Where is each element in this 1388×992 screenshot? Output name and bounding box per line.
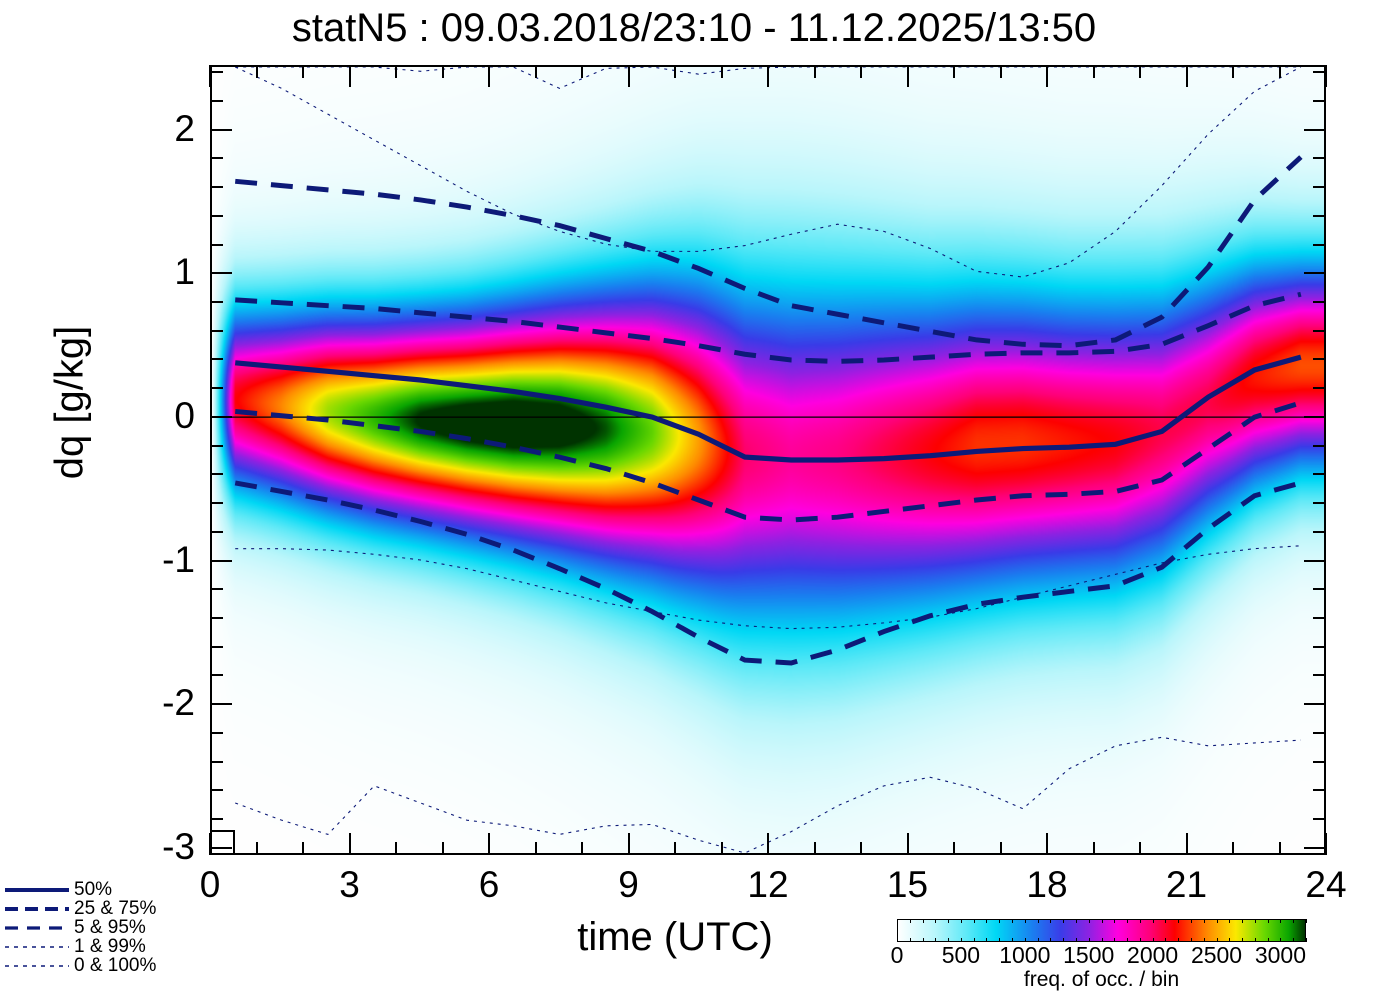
- percentile-25-line: [235, 403, 1301, 520]
- colorbar-tick: [1242, 919, 1243, 923]
- x-minor-tick: [721, 65, 723, 78]
- y-minor-tick: [1313, 674, 1326, 676]
- y-axis-tick-labels: 210-1-2-3: [100, 0, 195, 992]
- colorbar-tick: [1268, 919, 1269, 923]
- colorbar-tick: [1217, 919, 1218, 923]
- colorbar-tick: [1191, 919, 1192, 923]
- x-tick-label: 24: [1286, 866, 1366, 903]
- colorbar-tick: [1178, 919, 1179, 923]
- y-major-tick: [1304, 129, 1326, 131]
- x-minor-tick: [395, 65, 397, 78]
- y-minor-tick: [1313, 301, 1326, 303]
- y-minor-tick: [1313, 502, 1326, 504]
- x-minor-tick: [581, 65, 583, 78]
- colorbar-tick: [1089, 919, 1090, 923]
- legend-label: 0 & 100%: [74, 956, 156, 975]
- y-minor-tick: [210, 445, 223, 447]
- colorbar-tick-label: 3000: [1235, 944, 1325, 967]
- x-minor-tick: [674, 842, 676, 855]
- x-minor-tick: [953, 65, 955, 78]
- x-minor-tick: [395, 842, 397, 855]
- y-minor-tick: [1313, 761, 1326, 763]
- x-minor-tick: [1232, 65, 1234, 78]
- x-tick-label: 21: [1147, 866, 1227, 903]
- y-minor-tick: [1313, 818, 1326, 820]
- y-minor-tick: [210, 244, 223, 246]
- percentile-1-line: [235, 67, 1301, 277]
- x-minor-tick: [1139, 65, 1141, 78]
- colorbar-tick: [1204, 919, 1205, 923]
- colorbar-tick: [986, 938, 987, 942]
- y-major-tick: [210, 272, 232, 274]
- y-tick-label: 2: [100, 110, 195, 147]
- x-major-tick: [1046, 833, 1048, 855]
- y-minor-tick: [210, 531, 223, 533]
- colorbar-tick: [1114, 938, 1115, 942]
- y-tick-label: -1: [100, 541, 195, 578]
- x-axis-tick-labels: 03691215182124: [0, 866, 1388, 916]
- colorbar-tick: [974, 919, 975, 923]
- colorbar-tick: [1114, 919, 1115, 923]
- x-minor-tick: [1093, 842, 1095, 855]
- x-minor-tick: [860, 65, 862, 78]
- y-minor-tick: [1313, 646, 1326, 648]
- x-major-tick: [349, 65, 351, 87]
- page-title: statN5 : 09.03.2018/23:10 - 11.12.2025/1…: [0, 6, 1388, 51]
- x-tick-label: 15: [868, 866, 948, 903]
- y-minor-tick: [1313, 473, 1326, 475]
- x-minor-tick: [674, 65, 676, 78]
- colorbar-tick: [948, 919, 949, 923]
- x-major-tick: [1325, 833, 1327, 855]
- colorbar-tick: [910, 919, 911, 923]
- x-minor-tick: [256, 65, 258, 78]
- colorbar-tick: [897, 919, 898, 923]
- y-minor-tick: [1313, 157, 1326, 159]
- x-minor-tick: [535, 65, 537, 78]
- y-major-tick: [210, 416, 232, 418]
- legend-line-swatch: [4, 904, 70, 914]
- colorbar-tick: [1306, 919, 1307, 923]
- colorbar-tick: [1280, 919, 1281, 923]
- y-minor-tick: [210, 186, 223, 188]
- x-tick-label: 6: [449, 866, 529, 903]
- y-minor-tick: [1313, 330, 1326, 332]
- y-minor-tick: [1313, 387, 1326, 389]
- x-minor-tick: [535, 842, 537, 855]
- y-minor-tick: [210, 588, 223, 590]
- x-major-tick: [767, 65, 769, 87]
- y-tick-label: 0: [100, 397, 195, 434]
- x-major-tick: [1325, 65, 1327, 87]
- y-minor-tick: [1313, 100, 1326, 102]
- legend-line-swatch: [4, 923, 70, 933]
- plot-canvas-wrapper: [212, 67, 1324, 853]
- x-major-tick: [488, 65, 490, 87]
- x-minor-tick: [860, 842, 862, 855]
- x-minor-tick: [1279, 65, 1281, 78]
- y-tick-label: -2: [100, 684, 195, 721]
- x-major-tick: [209, 833, 211, 855]
- legend-item: 25 & 75%: [4, 899, 194, 918]
- y-minor-tick: [210, 157, 223, 159]
- y-minor-tick: [210, 215, 223, 217]
- x-tick-label: 3: [310, 866, 390, 903]
- y-minor-tick: [1313, 531, 1326, 533]
- colorbar-tick: [935, 938, 936, 942]
- y-minor-tick: [1313, 588, 1326, 590]
- x-minor-tick: [1139, 842, 1141, 855]
- legend-label: 1 & 99%: [74, 937, 146, 956]
- colorbar-tick: [1012, 919, 1013, 923]
- legend-label: 5 & 95%: [74, 918, 146, 937]
- x-minor-tick: [953, 842, 955, 855]
- legend-item: 5 & 95%: [4, 918, 194, 937]
- colorbar-tick: [923, 938, 924, 942]
- colorbar-tick: [1242, 938, 1243, 942]
- colorbar-tick: [1229, 919, 1230, 923]
- colorbar-tick: [1153, 919, 1154, 923]
- y-minor-tick: [1313, 789, 1326, 791]
- x-minor-tick: [1093, 65, 1095, 78]
- colorbar-tick: [1127, 919, 1128, 923]
- y-major-tick: [210, 703, 232, 705]
- x-axis-title: time (UTC): [505, 915, 845, 960]
- y-major-tick: [1304, 847, 1326, 849]
- legend-item: 50%: [4, 880, 194, 899]
- y-major-tick: [1304, 560, 1326, 562]
- x-major-tick: [209, 65, 211, 87]
- y-minor-tick: [210, 358, 223, 360]
- colorbar-tick: [1293, 919, 1294, 923]
- y-minor-tick: [210, 100, 223, 102]
- x-minor-tick: [1279, 842, 1281, 855]
- y-major-tick: [210, 129, 232, 131]
- y-axis-title: dq [g/kg]: [48, 273, 93, 533]
- colorbar-tick: [1178, 938, 1179, 942]
- x-major-tick: [907, 65, 909, 87]
- y-tick-label: -3: [100, 828, 195, 865]
- percentile-5-line: [235, 483, 1301, 663]
- colorbar-ticks: [897, 919, 1306, 942]
- x-tick-label: 9: [589, 866, 669, 903]
- y-minor-tick: [1313, 358, 1326, 360]
- legend-item: 1 & 99%: [4, 937, 194, 956]
- x-major-tick: [628, 65, 630, 87]
- colorbar-tick: [1050, 938, 1051, 942]
- colorbar-tick: [961, 919, 962, 923]
- y-minor-tick: [210, 387, 223, 389]
- y-minor-tick: [210, 617, 223, 619]
- percentile-75-line: [235, 294, 1301, 361]
- y-major-tick: [210, 560, 232, 562]
- colorbar-tick: [1038, 919, 1039, 923]
- legend-line-swatch: [4, 961, 70, 971]
- y-tick-label: 1: [100, 253, 195, 290]
- percentile-99-line: [235, 546, 1301, 629]
- x-major-tick: [1186, 833, 1188, 855]
- x-minor-tick: [581, 842, 583, 855]
- y-minor-tick: [210, 330, 223, 332]
- colorbar-tick: [1025, 919, 1026, 923]
- percentile-95-line: [235, 157, 1301, 346]
- colorbar-tick: [986, 919, 987, 923]
- x-tick-label: 12: [728, 866, 808, 903]
- x-minor-tick: [1232, 842, 1234, 855]
- x-major-tick: [767, 833, 769, 855]
- colorbar-tick: [923, 919, 924, 923]
- legend-line-swatch: [4, 885, 70, 895]
- y-minor-tick: [210, 818, 223, 820]
- colorbar-tick: [910, 938, 911, 942]
- y-minor-tick: [1313, 732, 1326, 734]
- x-minor-tick: [1000, 842, 1002, 855]
- colorbar-tick: [1140, 919, 1141, 923]
- x-minor-tick: [256, 842, 258, 855]
- y-major-tick: [210, 847, 232, 849]
- y-minor-tick: [210, 502, 223, 504]
- y-minor-tick: [1313, 617, 1326, 619]
- x-minor-tick: [1000, 65, 1002, 78]
- colorbar-title: freq. of occ. / bin: [897, 968, 1306, 992]
- chart-page: statN5 : 09.03.2018/23:10 - 11.12.2025/1…: [0, 0, 1388, 992]
- x-minor-tick: [814, 842, 816, 855]
- x-minor-tick: [814, 65, 816, 78]
- colorbar-tick: [1063, 919, 1064, 923]
- y-minor-tick: [1313, 244, 1326, 246]
- x-major-tick: [907, 833, 909, 855]
- x-minor-tick: [442, 842, 444, 855]
- legend-label: 25 & 75%: [74, 899, 156, 918]
- y-minor-tick: [1313, 186, 1326, 188]
- x-major-tick: [1046, 65, 1048, 87]
- y-minor-tick: [210, 71, 223, 73]
- x-minor-tick: [442, 65, 444, 78]
- x-tick-label: 18: [1007, 866, 1087, 903]
- colorbar-tick: [999, 919, 1000, 923]
- percentile-legend: 50%25 & 75% 5 & 95% 1 & 99% 0 & 100%: [4, 880, 194, 975]
- y-major-tick: [1304, 416, 1326, 418]
- legend-label: 50%: [74, 880, 112, 899]
- colorbar-tick: [1165, 919, 1166, 923]
- percentile-50-line: [235, 357, 1301, 460]
- colorbar-tick: [935, 919, 936, 923]
- x-minor-tick: [302, 65, 304, 78]
- plot-area: [210, 65, 1326, 855]
- y-minor-tick: [1313, 445, 1326, 447]
- x-minor-tick: [302, 842, 304, 855]
- y-minor-tick: [1313, 215, 1326, 217]
- y-major-tick: [1304, 703, 1326, 705]
- colorbar-tick: [1076, 919, 1077, 923]
- legend-item: 0 & 100%: [4, 956, 194, 975]
- y-minor-tick: [210, 301, 223, 303]
- x-major-tick: [488, 833, 490, 855]
- y-minor-tick: [210, 761, 223, 763]
- colorbar-tick: [1255, 919, 1256, 923]
- colorbar-tick: [1306, 938, 1307, 942]
- colorbar-tick: [1050, 919, 1051, 923]
- y-minor-tick: [210, 732, 223, 734]
- colorbar-tick: [1102, 919, 1103, 923]
- y-minor-tick: [210, 674, 223, 676]
- no-data-corner-mask: [212, 830, 235, 853]
- x-major-tick: [628, 833, 630, 855]
- y-minor-tick: [210, 789, 223, 791]
- y-major-tick: [1304, 272, 1326, 274]
- y-minor-tick: [210, 646, 223, 648]
- x-major-tick: [1186, 65, 1188, 87]
- x-minor-tick: [721, 842, 723, 855]
- percentile-lines-overlay: [212, 67, 1324, 853]
- x-major-tick: [349, 833, 351, 855]
- legend-line-swatch: [4, 942, 70, 952]
- y-minor-tick: [210, 473, 223, 475]
